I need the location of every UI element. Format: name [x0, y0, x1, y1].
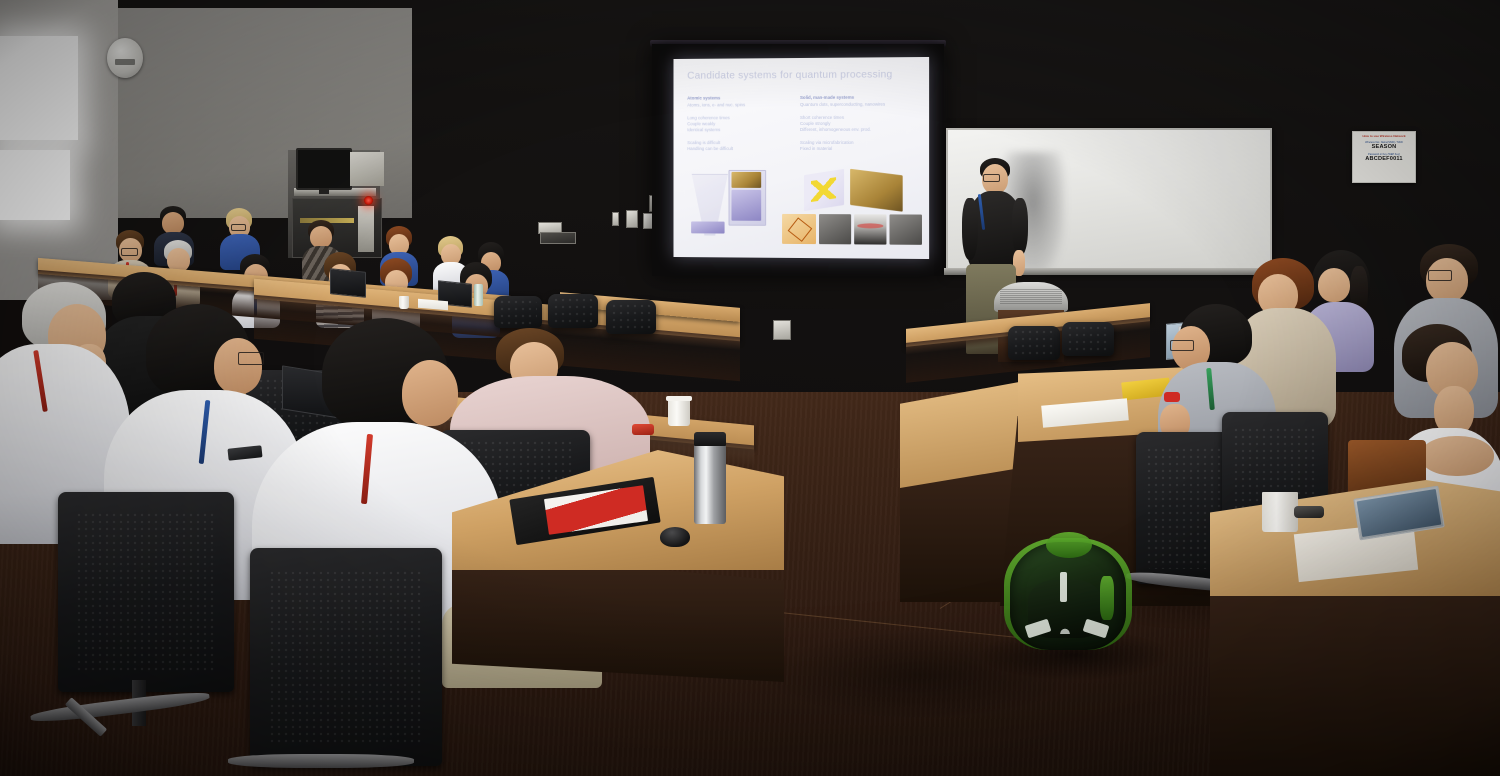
chair — [250, 548, 442, 766]
wall-plate — [612, 212, 619, 226]
slide-left-subheading: Atoms, ions, e- and nuc. spins — [687, 102, 745, 107]
slide-left-pro-1: Long coherence times — [687, 115, 730, 120]
backpack[interactable] — [1004, 526, 1132, 652]
microtoroid-resonator-figure — [854, 214, 886, 244]
chip-trap-gold-figure — [731, 172, 761, 188]
chair — [548, 294, 598, 328]
thermos-lid[interactable] — [694, 432, 726, 446]
presenter-arm-right — [1012, 198, 1028, 256]
coffee-cup[interactable] — [399, 296, 409, 309]
trap-base-figure — [691, 221, 724, 233]
wall-plate — [626, 210, 638, 228]
slide-right-pro-2: Couple strongly — [800, 121, 831, 126]
wristband — [1164, 392, 1180, 402]
slide-right-heading: Solid, man-made systems — [800, 94, 905, 101]
slide-figures — [685, 170, 921, 251]
computer-mouse[interactable] — [660, 527, 690, 547]
slide-left-column: Atomic systems Atoms, ions, e- and nuc. … — [687, 95, 790, 159]
av-rack-equipment — [350, 152, 384, 186]
slide-left-pro-3: Identical systems — [687, 127, 720, 132]
slide-right-con-1: Scaling via microfabrication — [800, 140, 854, 145]
coffee-cup[interactable] — [1262, 492, 1298, 532]
slide-left-con-1: Scaling is difficult — [687, 140, 720, 145]
slide-right-con-2: Fixed in material — [800, 146, 832, 151]
chair-base — [228, 754, 414, 768]
window-upper — [0, 36, 78, 140]
sem-nanowire-figure — [819, 214, 851, 244]
josephson-junction-figure — [782, 214, 816, 244]
thermos-bottle[interactable] — [694, 442, 726, 524]
chair — [58, 492, 234, 692]
laptop[interactable] — [330, 268, 366, 298]
wall-plate — [540, 232, 576, 244]
coffee-cup[interactable] — [668, 398, 690, 426]
water-bottle[interactable] — [474, 284, 483, 306]
wifi-password-value: ABCDEF0011 — [1356, 156, 1412, 162]
slide-title: Candidate systems for quantum processing — [687, 69, 923, 82]
gold-circuit-device-figure — [804, 169, 844, 211]
substrate-chip-figure — [850, 169, 903, 212]
wall-outlet — [773, 320, 791, 340]
chip-trap-body-figure — [731, 190, 761, 221]
desk-right-foreground-front — [1210, 572, 1500, 776]
red-object — [632, 424, 654, 435]
slide-left-heading: Atomic systems — [687, 95, 790, 102]
chair — [1008, 326, 1060, 360]
sem-device-figure — [889, 214, 921, 244]
slide-right-pro-3: Different, inhomogeneous env. prod. — [800, 127, 871, 132]
lecture-hall-photo: Candidate systems for quantum processing… — [0, 0, 1500, 776]
chair — [1062, 322, 1114, 356]
av-monitor — [296, 148, 352, 190]
presentation-slide: Candidate systems for quantum processing… — [673, 57, 929, 259]
coffee-cup-lid — [666, 396, 692, 401]
slide-left-con-2: Handling can be difficult — [687, 146, 733, 151]
slide-right-column: Solid, man-made systems Quantum dots, su… — [800, 94, 905, 158]
glasses-icon — [983, 174, 1000, 182]
eyeglasses-icon — [1294, 506, 1324, 518]
slide-right-pro-1: Short coherence times — [800, 114, 844, 119]
status-indicator-light — [364, 196, 373, 205]
presenter-arm-left — [962, 198, 978, 260]
slide-left-pro-2: Couple weakly — [687, 121, 715, 126]
wifi-ssid-value: SEASON — [1356, 144, 1412, 150]
podium-metal-panel — [994, 282, 1068, 312]
wifi-sign-title: How to use Wireless Network — [1356, 134, 1412, 139]
slide-right-subheading: Quantum dots, superconducting, nanowires — [800, 101, 885, 106]
wifi-info-sign: How to use Wireless Network Wireless Net… — [1352, 131, 1416, 183]
wall-clock — [107, 38, 143, 78]
